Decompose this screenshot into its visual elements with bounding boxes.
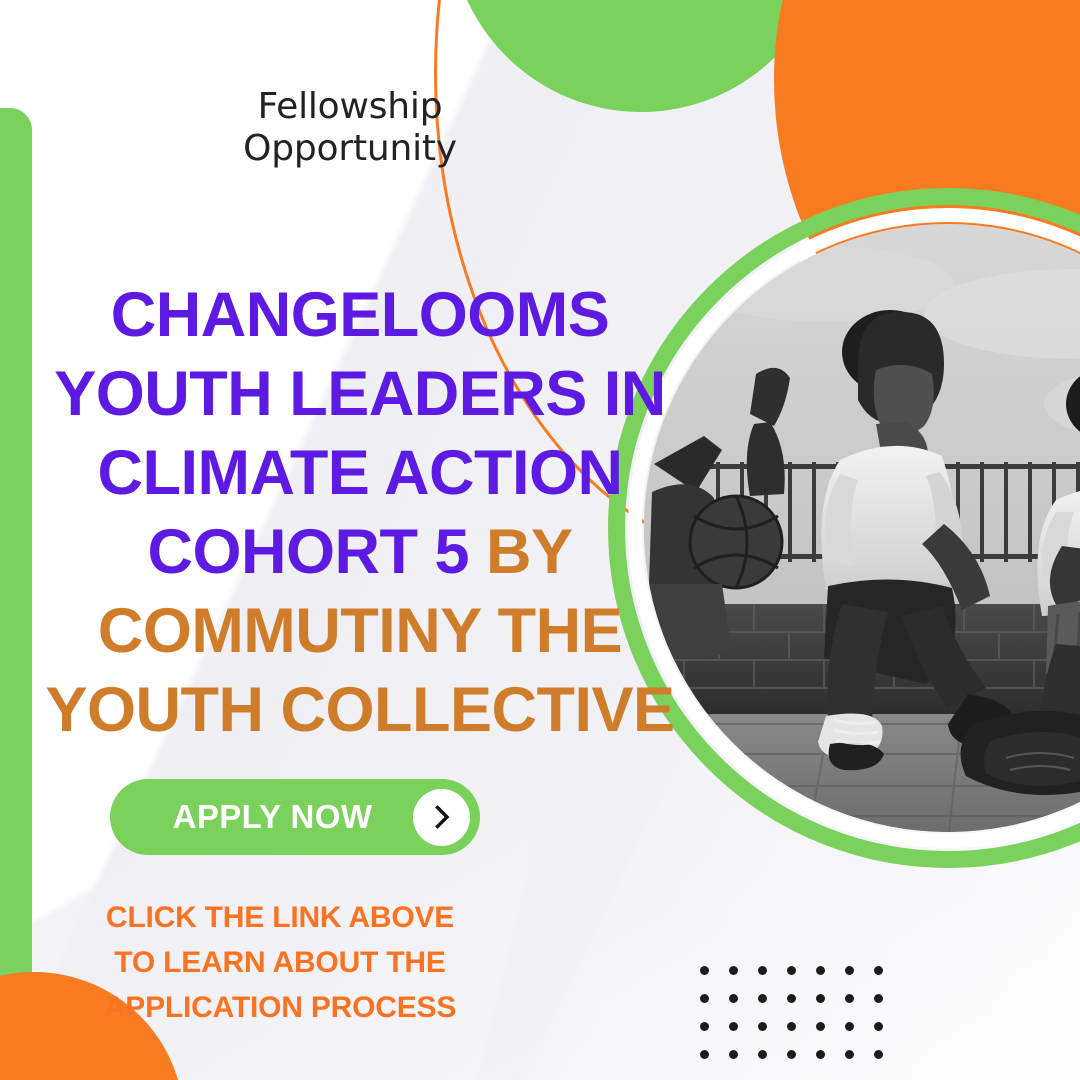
grid-dot (816, 966, 825, 975)
grid-dot (700, 994, 709, 1003)
grid-dot (845, 994, 854, 1003)
grid-dot (729, 1050, 738, 1059)
grid-dot (787, 1022, 796, 1031)
headline-line-5: COMMUTINY THE (40, 592, 680, 671)
grid-dot (874, 994, 883, 1003)
eyebrow-line-2: Opportunity (0, 128, 700, 170)
headline-line-4-purple: COHORT 5 (147, 517, 486, 587)
headline-line-4: COHORT 5 BY (40, 513, 680, 592)
cta-subtext-line-1: CLICK THE LINK ABOVE (45, 895, 515, 940)
grid-dot (729, 994, 738, 1003)
apply-now-button[interactable]: APPLY NOW (110, 779, 480, 855)
grid-dot (787, 994, 796, 1003)
cta-subtext-line-2: TO LEARN ABOUT THE (45, 940, 515, 985)
grid-dot (758, 966, 767, 975)
eyebrow-line-1: Fellowship (0, 86, 700, 128)
grid-dot (758, 1022, 767, 1031)
page-title: CHANGELOOMS YOUTH LEADERS IN CLIMATE ACT… (40, 276, 680, 750)
left-green-bar-decoration (0, 108, 32, 1080)
grid-dot (874, 1050, 883, 1059)
grid-dot (787, 966, 796, 975)
grid-dot (845, 1050, 854, 1059)
grid-dot (816, 1022, 825, 1031)
grid-dot (816, 1050, 825, 1059)
grid-dot (816, 994, 825, 1003)
poster-canvas: Fellowship Opportunity CHANGELOOMS YOUTH… (0, 0, 1080, 1080)
cta-subtext-line-3: APPLICATION PROCESS (45, 985, 515, 1030)
grid-dot (729, 966, 738, 975)
headline-line-4-orange: BY (486, 517, 573, 587)
grid-dot (758, 994, 767, 1003)
grid-dot (845, 1022, 854, 1031)
grid-dot (874, 966, 883, 975)
grid-dot (845, 966, 854, 975)
headline-line-6: YOUTH COLLECTIVE (40, 671, 680, 750)
chevron-right-icon (413, 789, 470, 846)
grid-dot (758, 1050, 767, 1059)
headline-line-2: YOUTH LEADERS IN (40, 355, 680, 434)
headline-line-1: CHANGELOOMS (40, 276, 680, 355)
eyebrow-text: Fellowship Opportunity (0, 86, 700, 171)
grid-dot (874, 1022, 883, 1031)
grid-dot (787, 1050, 796, 1059)
grid-dot (700, 1050, 709, 1059)
apply-now-label: APPLY NOW (110, 798, 413, 836)
grid-dot (700, 1022, 709, 1031)
dot-grid-decoration (700, 966, 903, 1078)
grid-dot (729, 1022, 738, 1031)
cta-subtext: CLICK THE LINK ABOVE TO LEARN ABOUT THE … (45, 895, 515, 1030)
headline-line-3: CLIMATE ACTION (40, 434, 680, 513)
grid-dot (700, 966, 709, 975)
